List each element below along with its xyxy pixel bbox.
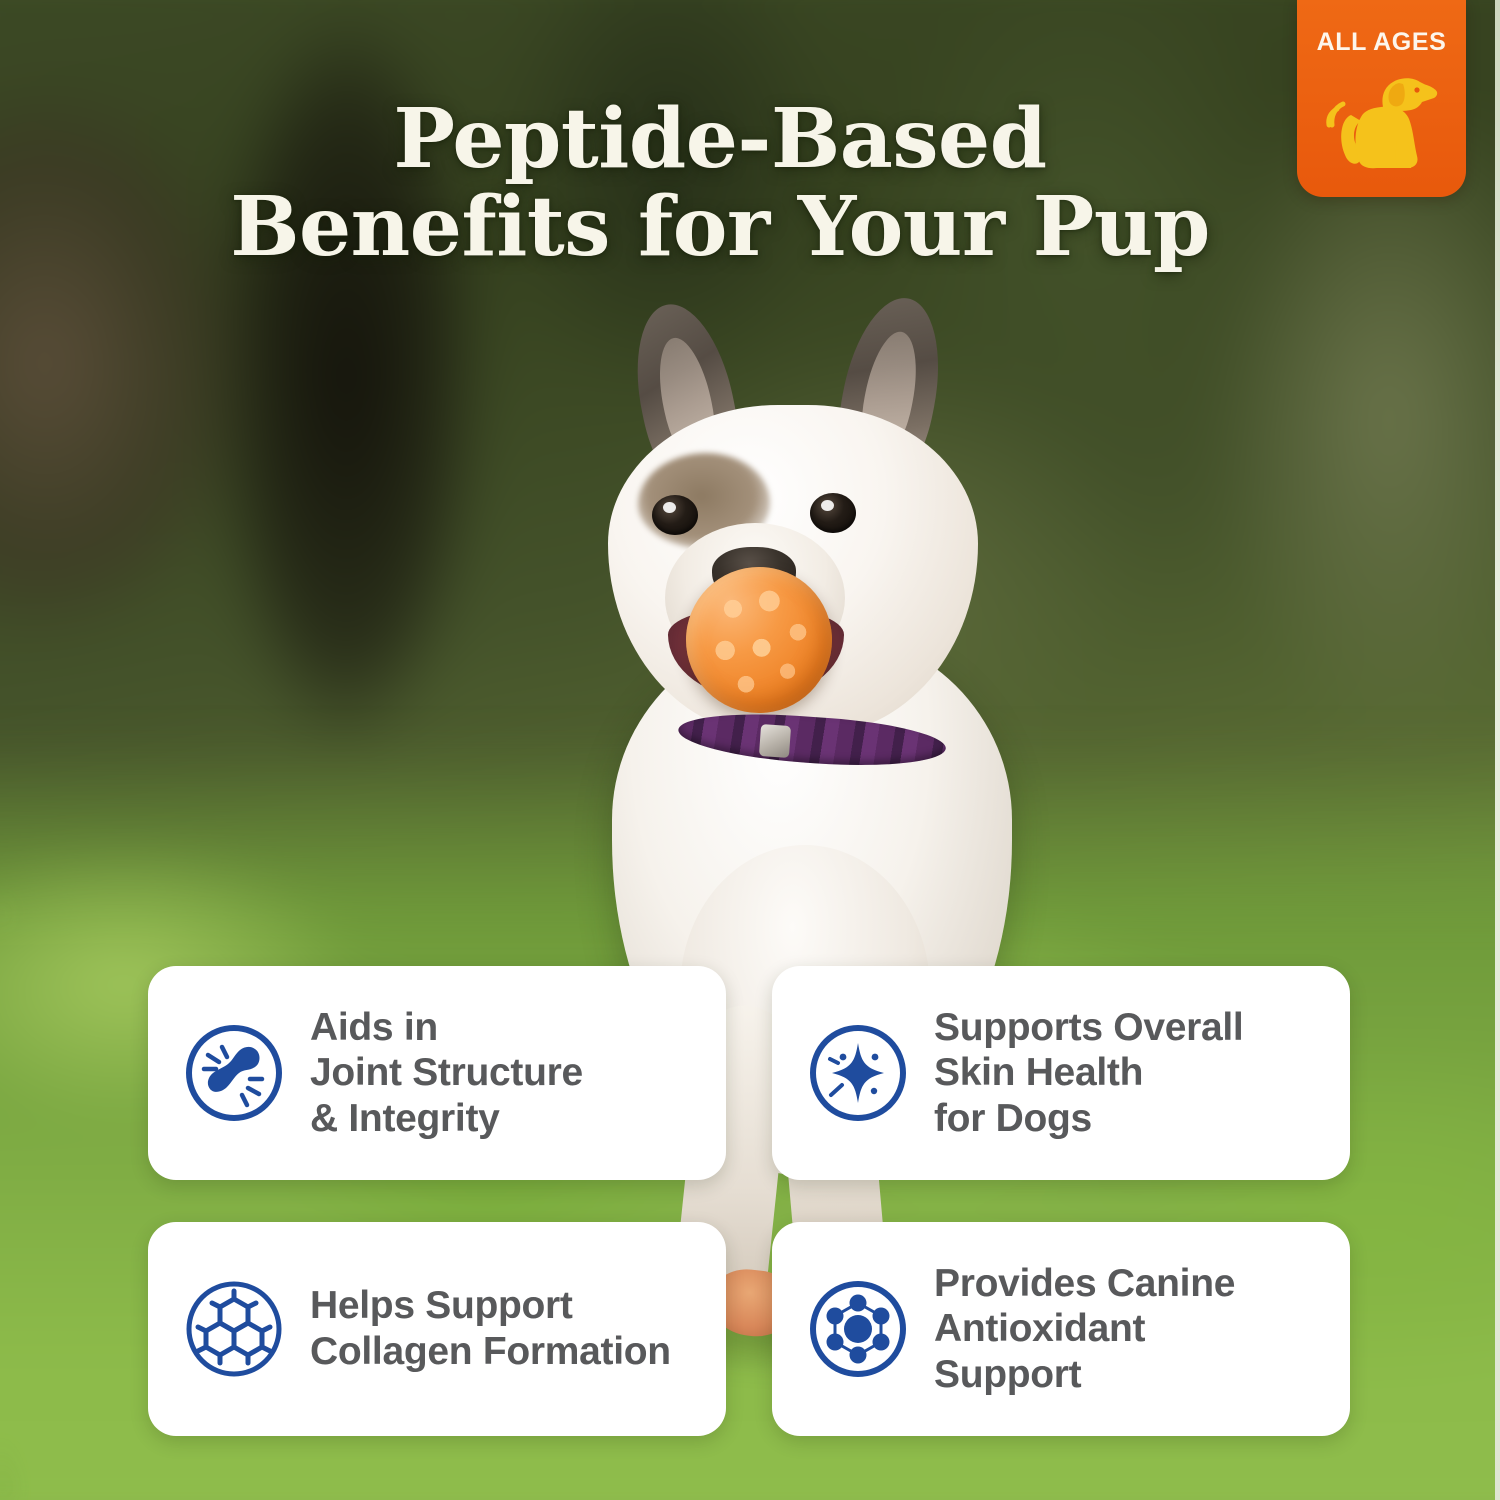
all-ages-badge-label: ALL AGES (1317, 28, 1447, 57)
benefit-card-joint-structure[interactable]: Aids in Joint Structure & Integrity (148, 966, 726, 1180)
benefit-card-label: Aids in Joint Structure & Integrity (310, 1005, 583, 1142)
collagen-hexagon-molecule-icon (182, 1277, 286, 1381)
sparkle-skin-icon (806, 1021, 910, 1125)
sitting-dog-icon (1321, 63, 1443, 181)
benefits-grid: Aids in Joint Structure & Integrity Supp… (148, 966, 1366, 1436)
benefit-card-antioxidant-support[interactable]: Provides Canine Antioxidant Support (772, 1222, 1350, 1436)
page-title-line-1: Peptide-Based (393, 91, 1046, 187)
page-title-line-2: Benefits for Your Pup (110, 184, 1330, 272)
benefit-card-collagen-formation[interactable]: Helps Support Collagen Formation (148, 1222, 726, 1436)
benefit-card-label: Provides Canine Antioxidant Support (934, 1261, 1235, 1398)
benefit-card-label: Supports Overall Skin Health for Dogs (934, 1005, 1243, 1142)
benefit-card-label: Helps Support Collagen Formation (310, 1283, 671, 1374)
all-ages-badge: ALL AGES (1297, 0, 1466, 197)
dog-eye-right (810, 493, 856, 533)
dog-eye-left (652, 495, 698, 535)
dog-collar-buckle (759, 724, 791, 758)
page-title: Peptide-Based Benefits for Your Pup (0, 96, 1500, 271)
antioxidant-atom-icon (806, 1277, 910, 1381)
infographic-canvas: Peptide-Based Benefits for Your Pup ALL … (0, 0, 1500, 1500)
joint-bone-icon (182, 1021, 286, 1125)
orange-dimpled-ball (686, 567, 832, 713)
benefit-card-skin-health[interactable]: Supports Overall Skin Health for Dogs (772, 966, 1350, 1180)
